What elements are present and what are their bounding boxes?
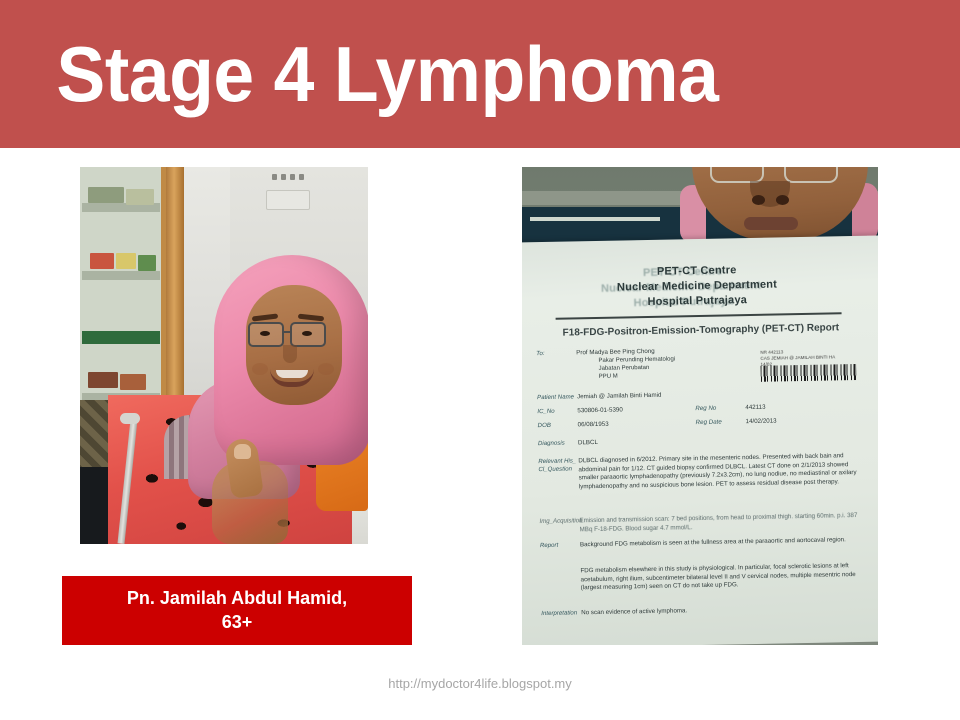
eyeglasses-bridge [284, 331, 292, 333]
slide-canvas: Stage 4 Lymphoma [0, 0, 960, 720]
footer-url: http://mydoctor4life.blogspot.my [0, 676, 960, 691]
acquisition-label: Img_Acquisition [522, 517, 580, 535]
report-spacer [522, 567, 581, 594]
shelf-board [82, 331, 160, 344]
relevant-history-label: Relevant His_ Cl_Question [522, 457, 579, 492]
dob-label: DOB [522, 421, 578, 431]
shelf-board [82, 271, 160, 280]
reg-no-value: 442113 [745, 402, 875, 413]
socket-hole [299, 174, 304, 180]
diagnosis-label: Diagnosis [522, 439, 578, 449]
ic-no-value: 530806-01-5390 [577, 405, 695, 416]
reg-date-value: 14/02/2013 [746, 416, 876, 427]
interpretation-text: No scan evidence of active lymphoma. [581, 604, 878, 618]
barcode [761, 364, 857, 382]
report-title: F18-FDG-Positron-Emission-Tomography (PE… [536, 322, 866, 339]
thumbnail [234, 444, 251, 459]
nostril [752, 195, 765, 205]
report-document: PET-CT Centre PET-CT Centre Nuclear Medi… [522, 236, 878, 645]
patient-name-label: Patient Name [522, 393, 577, 403]
shelf-item [88, 372, 118, 388]
patient-photo [80, 167, 368, 544]
eye [260, 331, 270, 336]
petct-report-sheet: PET-CT Centre PET-CT Centre Nuclear Medi… [522, 236, 878, 645]
cheek [252, 363, 268, 375]
nose [283, 345, 297, 363]
lips [744, 217, 798, 230]
diagnosis-value: DLBCL [578, 434, 876, 448]
acquisition-text: Emission and transmission scan: 7 bed po… [579, 512, 877, 535]
eyeglasses-lens [784, 167, 838, 183]
eye [302, 331, 312, 336]
cane-handle [120, 413, 140, 424]
shelf-item [88, 187, 124, 203]
interpretation-label: Interpretation [522, 609, 581, 619]
relevant-history-text: DLBCL diagnosed in 6/2012. Primary site … [578, 452, 877, 492]
socket-hole [281, 174, 286, 180]
report-section-text-2: FDG metabolism elsewhere in this study i… [580, 562, 878, 593]
shelf-item [90, 253, 114, 269]
report-photo: PET-CT Centre PET-CT Centre Nuclear Medi… [522, 167, 878, 645]
caption-line-2: 63+ [222, 612, 253, 632]
nostril [776, 195, 789, 205]
shelf-item [126, 189, 154, 205]
dob-value: 06/08/1953 [578, 419, 696, 430]
wall-socket [266, 190, 310, 210]
socket-hole [290, 174, 295, 180]
page-title: Stage 4 Lymphoma [0, 35, 718, 113]
reg-no-label: Reg No [695, 404, 745, 414]
shelf-item [138, 255, 156, 271]
caption-line-1: Pn. Jamilah Abdul Hamid, [127, 588, 347, 608]
patient-caption-box: Pn. Jamilah Abdul Hamid, 63+ [62, 576, 412, 645]
report-section-text-1: Background FDG metabolism is seen at the… [580, 536, 878, 550]
shelf-item [116, 253, 136, 269]
report-section-label: Report [522, 541, 580, 551]
light-reflection [530, 217, 660, 221]
shelf-item [120, 374, 146, 390]
header-divider [556, 312, 842, 319]
title-banner: Stage 4 Lymphoma [0, 0, 960, 148]
socket-hole [272, 174, 277, 180]
cheek [318, 363, 334, 375]
to-label: To: [522, 349, 576, 359]
ic-no-label: IC_No [522, 407, 577, 417]
reg-date-label: Reg Date [696, 418, 746, 428]
patient-caption-text: Pn. Jamilah Abdul Hamid, 63+ [117, 587, 357, 635]
patient-name-value: Jemiah @ Jamilah Binti Hamid [577, 388, 875, 402]
